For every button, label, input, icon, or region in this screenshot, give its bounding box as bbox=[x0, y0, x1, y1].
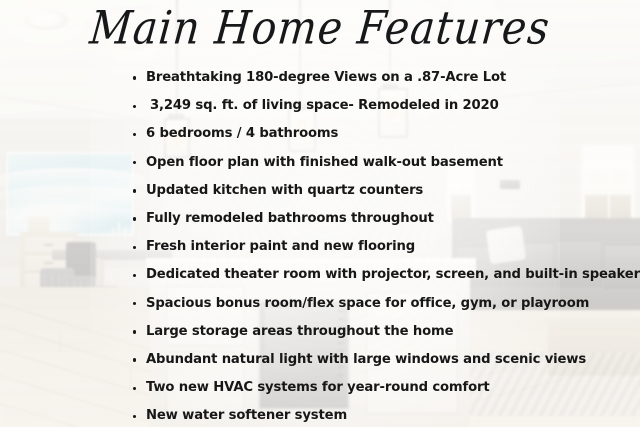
page-title: Main Home Features bbox=[0, 1, 640, 55]
bullet-icon bbox=[133, 274, 136, 277]
bullet-icon bbox=[133, 105, 136, 108]
feature-item: Breathtaking 180-degree Views on a .87-A… bbox=[133, 64, 633, 92]
feature-text: Fully remodeled bathrooms throughout bbox=[146, 211, 434, 226]
feature-text: 3,249 sq. ft. of living space- Remodeled… bbox=[150, 98, 499, 113]
feature-text: New water softener system bbox=[146, 408, 347, 423]
feature-text: Open floor plan with finished walk-out b… bbox=[146, 155, 503, 170]
feature-item: New water softener system bbox=[133, 402, 633, 427]
feature-text: Large storage areas throughout the home bbox=[146, 324, 453, 339]
bullet-icon bbox=[133, 387, 136, 390]
feature-item: Fresh interior paint and new flooring bbox=[133, 233, 633, 261]
feature-item: Open floor plan with finished walk-out b… bbox=[133, 149, 633, 177]
bullet-icon bbox=[133, 415, 136, 418]
feature-slide: Main Home Features Breathtaking 180-degr… bbox=[0, 0, 640, 427]
feature-item: Fully remodeled bathrooms throughout bbox=[133, 205, 633, 233]
feature-item: 6 bedrooms / 4 bathrooms bbox=[133, 120, 633, 148]
bullet-icon bbox=[133, 217, 136, 220]
bullet-icon bbox=[133, 133, 136, 136]
bullet-icon bbox=[133, 189, 136, 192]
text-content: Main Home Features Breathtaking 180-degr… bbox=[0, 0, 640, 427]
bullet-icon bbox=[133, 330, 136, 333]
bullet-icon bbox=[133, 246, 136, 249]
features-list: Breathtaking 180-degree Views on a .87-A… bbox=[133, 64, 633, 427]
feature-item: Updated kitchen with quartz counters bbox=[133, 177, 633, 205]
bullet-icon bbox=[133, 358, 136, 361]
feature-item: Large storage areas throughout the home bbox=[133, 318, 633, 346]
bullet-icon bbox=[133, 302, 136, 305]
bullet-icon bbox=[133, 161, 136, 164]
feature-text: 6 bedrooms / 4 bathrooms bbox=[146, 126, 338, 141]
bullet-icon bbox=[133, 76, 136, 79]
feature-item: Abundant natural light with large window… bbox=[133, 346, 633, 374]
feature-text: Breathtaking 180-degree Views on a .87-A… bbox=[146, 70, 506, 85]
feature-text: Abundant natural light with large window… bbox=[146, 352, 586, 367]
feature-text: Spacious bonus room/flex space for offic… bbox=[146, 296, 589, 311]
feature-text: Dedicated theater room with projector, s… bbox=[146, 267, 640, 282]
feature-text: Fresh interior paint and new flooring bbox=[146, 239, 415, 254]
feature-item: Two new HVAC systems for year-round comf… bbox=[133, 374, 633, 402]
feature-item: 3,249 sq. ft. of living space- Remodeled… bbox=[133, 92, 633, 120]
feature-item: Dedicated theater room with projector, s… bbox=[133, 261, 633, 289]
feature-text: Updated kitchen with quartz counters bbox=[146, 183, 423, 198]
feature-text: Two new HVAC systems for year-round comf… bbox=[146, 380, 490, 395]
feature-item: Spacious bonus room/flex space for offic… bbox=[133, 290, 633, 318]
